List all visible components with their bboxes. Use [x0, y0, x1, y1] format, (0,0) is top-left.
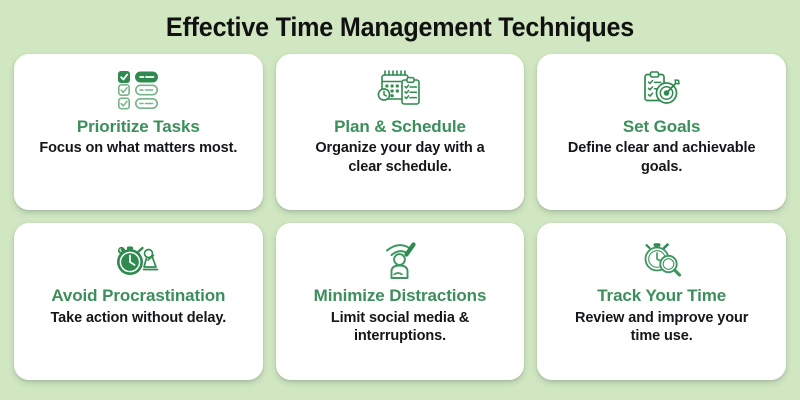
- card-set-goals[interactable]: Set Goals Define clear and achievable go…: [537, 54, 786, 211]
- card-title: Plan & Schedule: [334, 117, 466, 137]
- card-description: Review and improve your time use.: [562, 309, 762, 346]
- card-title: Track Your Time: [597, 286, 726, 306]
- card-description: Take action without delay.: [50, 309, 226, 328]
- stopwatch-person-icon: [114, 236, 162, 282]
- card-plan-schedule[interactable]: Plan & Schedule Organize your day with a…: [276, 54, 525, 211]
- person-no-wifi-icon: [379, 236, 421, 282]
- card-description: Focus on what matters most.: [39, 139, 237, 158]
- page-title: Effective Time Management Techniques: [41, 0, 759, 54]
- card-title: Minimize Distractions: [314, 286, 487, 306]
- card-prioritize-tasks[interactable]: Prioritize Tasks Focus on what matters m…: [14, 54, 263, 211]
- calendar-clipboard-icon: [376, 67, 424, 113]
- card-description: Limit social media & interruptions.: [300, 309, 500, 346]
- card-description: Organize your day with a clear schedule.: [300, 139, 500, 176]
- card-avoid-procrastination[interactable]: Avoid Procrastination Take action withou…: [14, 223, 263, 380]
- infographic-root: Effective Time Management Techniques: [0, 0, 800, 400]
- card-description: Define clear and achievable goals.: [562, 139, 762, 176]
- cards-grid: Prioritize Tasks Focus on what matters m…: [14, 54, 786, 380]
- checklist-icon: [115, 67, 161, 113]
- card-minimize-distractions[interactable]: Minimize Distractions Limit social media…: [276, 223, 525, 380]
- card-track-your-time[interactable]: Track Your Time Review and improve your …: [537, 223, 786, 380]
- card-title: Avoid Procrastination: [51, 286, 225, 306]
- stopwatch-magnifier-icon: [639, 236, 685, 282]
- card-title: Prioritize Tasks: [77, 117, 200, 137]
- card-title: Set Goals: [623, 117, 701, 137]
- clipboard-target-icon: [639, 67, 685, 113]
